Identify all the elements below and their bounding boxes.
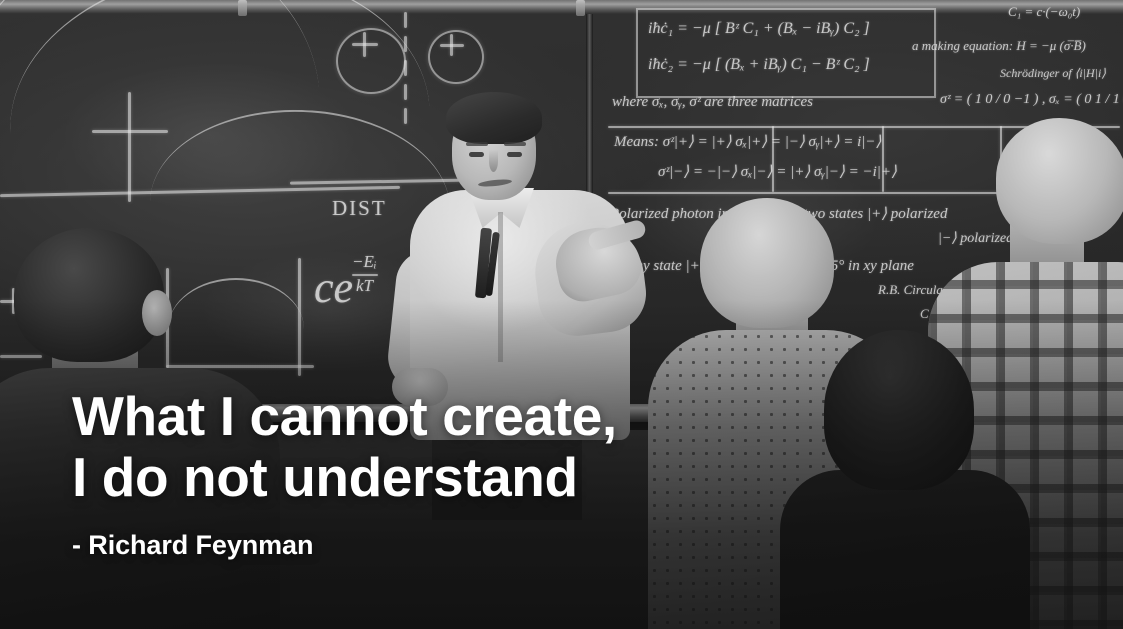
feynman-brow <box>504 142 526 146</box>
quote-block: What I cannot create, I do not understan… <box>72 386 832 561</box>
quote-slide: DIST ce −Eᵢ kT iħċ₁ = −μ [ Bᶻ C₁ + (Bₓ −… <box>0 0 1123 629</box>
chalk-boxed-equation-1: iħċ₁ = −μ [ Bᶻ C₁ + (Bₓ − iBᵧ) C₂ ] <box>648 20 870 38</box>
chalk-margin-note-1: C₁ = c·(−ω₀t) <box>1008 4 1080 20</box>
chalk-sigma-row-2: σᶻ|−⟩ = −|−⟩ σₓ|−⟩ = |+⟩ σᵧ|−⟩ = −i|+⟩ <box>658 162 897 181</box>
chalk-horizontal-tick <box>92 130 168 133</box>
quote-attribution: - Richard Feynman <box>72 529 832 561</box>
chalk-table-divider <box>882 126 884 192</box>
chalk-dash <box>404 84 407 100</box>
feynman-hair <box>446 92 542 144</box>
chalk-margin-note-3: Schrödinger of ⟨i|H|i⟩ <box>1000 66 1106 81</box>
chalk-boltzmann-exponent-denominator: kT <box>356 276 373 296</box>
chalk-dash <box>404 108 407 124</box>
feynman-brow <box>466 142 488 146</box>
chalk-dash <box>404 12 407 28</box>
chalk-cross-mark <box>450 34 453 56</box>
chalk-boxed-equation-2: iħċ₂ = −μ [ (Bₓ + iBᵧ) C₁ − Bᶻ C₂ ] <box>648 56 870 74</box>
chalk-margin-note-2: a making equation: H = −μ (σ̅·B̅) <box>912 38 1086 54</box>
chalk-vertical-tick <box>128 92 131 202</box>
quote-line-1: What I cannot create, <box>72 386 832 447</box>
chalk-circle-diagram <box>428 30 484 84</box>
student-plaid-hair <box>996 118 1123 244</box>
feynman-nose <box>489 150 498 172</box>
chalk-line-polarized-2: |−⟩ polarized <box>938 230 1013 247</box>
chalk-dash <box>404 60 407 76</box>
quote-line-2: I do not understand <box>72 447 832 508</box>
chalk-line-sigma-defs: σᶻ = ( 1 0 / 0 −1 ) , σₓ = ( 0 1 / 1 0 )… <box>940 92 1123 108</box>
chalk-sigma-row-1: Means: σᶻ|+⟩ = |+⟩ σₓ|+⟩ = |−⟩ σᵧ|+⟩ = i… <box>614 132 881 151</box>
chalk-dash <box>404 36 407 52</box>
rail-clip <box>576 0 585 16</box>
feynman-eye <box>507 152 522 157</box>
chalk-circle-diagram <box>336 28 406 94</box>
chalk-boltzmann-exponent-numerator: −Eᵢ <box>352 252 377 272</box>
chalk-cross-mark <box>363 32 366 57</box>
feynman-eye <box>469 152 484 157</box>
chalk-line-matrices: where σₓ, σᵧ, σᶻ are three matrices <box>612 94 813 111</box>
chalk-label-dist: DIST <box>332 196 387 221</box>
